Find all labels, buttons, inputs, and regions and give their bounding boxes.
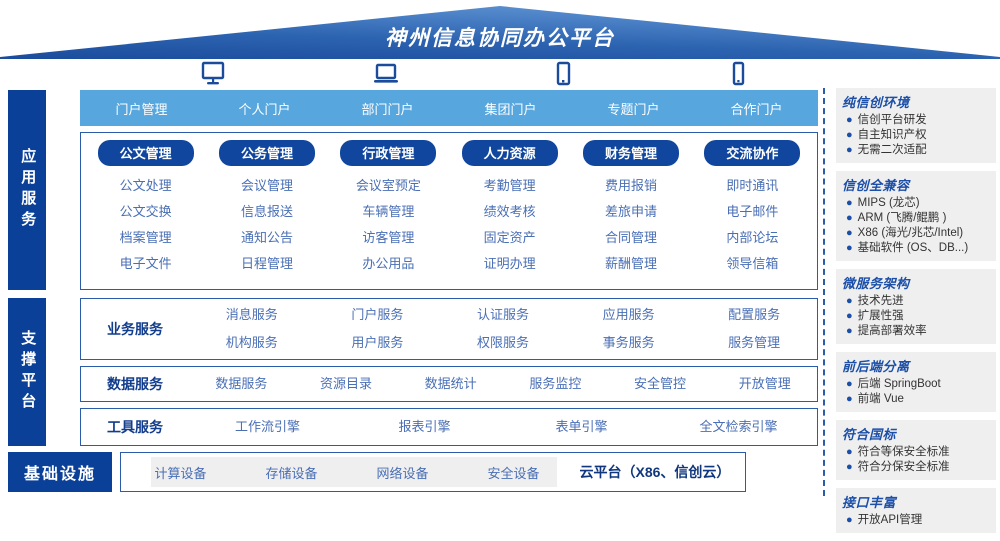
infrastructure-item[interactable]: 计算设备	[125, 463, 236, 482]
module-title-pill[interactable]: 公务管理	[219, 140, 315, 166]
bullet-icon: ●	[846, 128, 853, 143]
feature-list-item-text: 开放API管理	[858, 513, 923, 528]
smartphone-icon	[725, 61, 759, 89]
application-module-column: 财务管理 费用报销 差旅申请 合同管理 薪酬管理	[570, 140, 691, 277]
feature-card-heading: 接口丰富	[842, 492, 991, 511]
support-item[interactable]: 资源目录	[294, 370, 399, 398]
bullet-icon: ●	[846, 241, 853, 256]
bullet-icon: ●	[846, 211, 853, 226]
feature-list-item-text: 技术先进	[858, 294, 904, 309]
bullet-icon: ●	[846, 226, 853, 241]
feature-list-item: ●自主知识产权	[842, 128, 991, 143]
feature-list-item: ●基础软件 (OS、DB...)	[842, 241, 991, 256]
support-item-line: 消息服务 门户服务 认证服务 应用服务 配置服务	[189, 301, 817, 329]
support-item[interactable]: 机构服务	[189, 329, 315, 357]
support-item[interactable]: 用户服务	[315, 329, 441, 357]
feature-list-item: ●X86 (海光/兆芯/Intel)	[842, 226, 991, 241]
support-row-title: 工具服务	[81, 417, 189, 437]
application-module-column: 公务管理 会议管理 信息报送 通知公告 日程管理	[206, 140, 327, 277]
portal-item[interactable]: 集团门户	[449, 99, 572, 118]
module-title-pill[interactable]: 公文管理	[98, 140, 194, 166]
feature-card-heading: 信创全兼容	[842, 175, 991, 194]
application-modules-grid: 公文管理 公文处理 公文交换 档案管理 电子文件 公务管理 会议管理 信息报送 …	[85, 140, 813, 277]
layer-label-infrastructure: 基础设施	[8, 452, 112, 492]
feature-sidebar: 纯信创环境 ●信创平台研发 ●自主知识产权 ●无需二次适配 信创全兼容 ●MIP…	[836, 88, 996, 541]
support-item[interactable]: 服务监控	[503, 370, 608, 398]
support-row-title: 数据服务	[81, 374, 189, 394]
feature-card: 纯信创环境 ●信创平台研发 ●自主知识产权 ●无需二次适配	[836, 88, 996, 163]
feature-card: 前后端分离 ●后端 SpringBoot ●前端 Vue	[836, 352, 996, 412]
feature-list-item-text: 基础软件 (OS、DB...)	[858, 241, 969, 256]
module-item[interactable]: 固定资产	[484, 225, 536, 251]
support-row-data: 数据服务 数据服务 资源目录 数据统计 服务监控 安全管控 开放管理	[80, 366, 818, 402]
support-item[interactable]: 工作流引擎	[189, 413, 346, 441]
module-item[interactable]: 即时通讯	[726, 173, 778, 199]
feature-list-item: ●扩展性强	[842, 309, 991, 324]
feature-list-item: ●符合等保安全标准	[842, 445, 991, 460]
feature-list-item-text: 无需二次适配	[858, 143, 927, 158]
feature-list-item-text: MIPS (龙芯)	[858, 196, 920, 211]
support-row-items: 消息服务 门户服务 认证服务 应用服务 配置服务 机构服务 用户服务 权限服务 …	[189, 301, 817, 357]
feature-list-item: ●提高部署效率	[842, 324, 991, 339]
application-module-column: 交流协作 即时通讯 电子邮件 内部论坛 领导信箱	[692, 140, 813, 277]
support-row-tool: 工具服务 工作流引擎 报表引擎 表单引擎 全文检索引擎	[80, 408, 818, 446]
layer-label-support: 支撑平台	[8, 298, 46, 446]
bullet-icon: ●	[846, 445, 853, 460]
support-row-title: 业务服务	[81, 319, 189, 339]
support-item[interactable]: 事务服务	[566, 329, 692, 357]
feature-list-item: ●开放API管理	[842, 513, 991, 528]
support-item[interactable]: 开放管理	[712, 370, 817, 398]
feature-list-item-text: 提高部署效率	[858, 324, 927, 339]
module-title-pill[interactable]: 人力资源	[462, 140, 558, 166]
feature-list-item-text: X86 (海光/兆芯/Intel)	[858, 226, 963, 241]
feature-card: 符合国标 ●符合等保安全标准 ●符合分保安全标准	[836, 420, 996, 480]
tablet-icon	[550, 61, 584, 89]
laptop-icon	[373, 61, 407, 89]
feature-list-item-text: 自主知识产权	[858, 128, 927, 143]
infrastructure-item[interactable]: 存储设备	[236, 463, 347, 482]
bullet-icon: ●	[846, 196, 853, 211]
portal-item[interactable]: 合作门户	[695, 99, 818, 118]
feature-list-item: ●符合分保安全标准	[842, 460, 991, 475]
bullet-icon: ●	[846, 309, 853, 324]
support-item[interactable]: 消息服务	[189, 301, 315, 329]
feature-list-item: ●MIPS (龙芯)	[842, 196, 991, 211]
feature-list-item: ●技术先进	[842, 294, 991, 309]
feature-list-item: ●前端 Vue	[842, 392, 991, 407]
support-item[interactable]: 应用服务	[566, 301, 692, 329]
module-title-pill[interactable]: 财务管理	[583, 140, 679, 166]
module-item[interactable]: 公文处理	[120, 173, 172, 199]
module-item[interactable]: 公文交换	[120, 199, 172, 225]
feature-card: 微服务架构 ●技术先进 ●扩展性强 ●提高部署效率	[836, 269, 996, 344]
module-item[interactable]: 会议管理	[241, 173, 293, 199]
feature-list-item-text: 后端 SpringBoot	[858, 377, 941, 392]
module-item[interactable]: 费用报销	[605, 173, 657, 199]
module-item[interactable]: 证明办理	[484, 251, 536, 277]
module-item[interactable]: 电子邮件	[726, 199, 778, 225]
module-item[interactable]: 办公用品	[362, 251, 414, 277]
feature-list-item-text: ARM (飞腾/鲲鹏 )	[858, 211, 947, 226]
feature-card-heading: 符合国标	[842, 424, 991, 443]
application-module-column: 人力资源 考勤管理 绩效考核 固定资产 证明办理	[449, 140, 570, 277]
support-item[interactable]: 数据统计	[398, 370, 503, 398]
module-item[interactable]: 薪酬管理	[605, 251, 657, 277]
bullet-icon: ●	[846, 513, 853, 528]
module-item[interactable]: 绩效考核	[484, 199, 536, 225]
feature-list-item: ●信创平台研发	[842, 113, 991, 128]
support-item[interactable]: 全文检索引擎	[660, 413, 817, 441]
portal-bar: 门户管理 个人门户 部门门户 集团门户 专题门户 合作门户	[80, 90, 818, 126]
bullet-icon: ●	[846, 324, 853, 339]
application-module-column: 公文管理 公文处理 公文交换 档案管理 电子文件	[85, 140, 206, 277]
support-item[interactable]: 服务管理	[691, 329, 817, 357]
infrastructure-item-cloud[interactable]: 云平台（X86、信创云）	[569, 462, 741, 482]
module-title-pill[interactable]: 行政管理	[340, 140, 436, 166]
support-row-items: 数据服务 资源目录 数据统计 服务监控 安全管控 开放管理	[189, 370, 817, 398]
application-module-column: 行政管理 会议室预定 车辆管理 访客管理 办公用品	[328, 140, 449, 277]
support-item-line: 机构服务 用户服务 权限服务 事务服务 服务管理	[189, 329, 817, 357]
feature-card-heading: 纯信创环境	[842, 92, 991, 111]
support-item-line: 数据服务 资源目录 数据统计 服务监控 安全管控 开放管理	[189, 370, 817, 398]
layer-label-application: 应用服务	[8, 90, 46, 290]
support-item[interactable]: 表单引擎	[503, 413, 660, 441]
feature-list-item: ●ARM (飞腾/鲲鹏 )	[842, 211, 991, 226]
feature-card-heading: 微服务架构	[842, 273, 991, 292]
support-item[interactable]: 安全管控	[608, 370, 713, 398]
feature-list-item-text: 扩展性强	[858, 309, 904, 324]
infrastructure-box: 计算设备 存储设备 网络设备 安全设备 云平台（X86、信创云）	[120, 452, 746, 492]
bullet-icon: ●	[846, 377, 853, 392]
module-item[interactable]: 电子文件	[120, 251, 172, 277]
module-item[interactable]: 内部论坛	[726, 225, 778, 251]
feature-list-item-text: 符合等保安全标准	[858, 445, 950, 460]
support-row-items: 工作流引擎 报表引擎 表单引擎 全文检索引擎	[189, 413, 817, 441]
module-item[interactable]: 考勤管理	[484, 173, 536, 199]
module-title-pill[interactable]: 交流协作	[704, 140, 800, 166]
portal-item[interactable]: 专题门户	[572, 99, 695, 118]
page-title: 神州信息协同办公平台	[0, 22, 1000, 52]
application-modules-box: 公文管理 公文处理 公文交换 档案管理 电子文件 公务管理 会议管理 信息报送 …	[80, 132, 818, 290]
support-row-business: 业务服务 消息服务 门户服务 认证服务 应用服务 配置服务 机构服务 用户服务 …	[80, 298, 818, 360]
support-item[interactable]: 数据服务	[189, 370, 294, 398]
bullet-icon: ●	[846, 460, 853, 475]
layer-label-infrastructure-text: 基础设施	[24, 460, 96, 484]
module-item[interactable]: 日程管理	[241, 251, 293, 277]
platform-roof: 神州信息协同办公平台	[0, 0, 1000, 60]
feature-list-item-text: 信创平台研发	[858, 113, 927, 128]
bullet-icon: ●	[846, 392, 853, 407]
support-item[interactable]: 权限服务	[440, 329, 566, 357]
feature-list-item: ●后端 SpringBoot	[842, 377, 991, 392]
desktop-monitor-icon	[200, 61, 234, 89]
portal-item[interactable]: 门户管理	[80, 99, 203, 118]
layer-label-support-text: 支撑平台	[19, 330, 36, 414]
module-item[interactable]: 差旅申请	[605, 199, 657, 225]
feature-card: 信创全兼容 ●MIPS (龙芯) ●ARM (飞腾/鲲鹏 ) ●X86 (海光/…	[836, 171, 996, 261]
infrastructure-item[interactable]: 网络设备	[347, 463, 458, 482]
module-item[interactable]: 信息报送	[241, 199, 293, 225]
module-item[interactable]: 档案管理	[120, 225, 172, 251]
bullet-icon: ●	[846, 294, 853, 309]
module-item[interactable]: 访客管理	[362, 225, 414, 251]
support-item[interactable]: 门户服务	[315, 301, 441, 329]
module-item[interactable]: 领导信箱	[726, 251, 778, 277]
module-item[interactable]: 会议室预定	[356, 173, 421, 199]
support-item[interactable]: 报表引擎	[346, 413, 503, 441]
module-item[interactable]: 通知公告	[241, 225, 293, 251]
infrastructure-item[interactable]: 安全设备	[458, 463, 569, 482]
feature-card-heading: 前后端分离	[842, 356, 991, 375]
feature-list-item: ●无需二次适配	[842, 143, 991, 158]
module-item[interactable]: 车辆管理	[362, 199, 414, 225]
support-item-line: 工作流引擎 报表引擎 表单引擎 全文检索引擎	[189, 413, 817, 441]
layer-label-application-text: 应用服务	[19, 148, 36, 232]
portal-item[interactable]: 部门门户	[326, 99, 449, 118]
feature-list-item-text: 前端 Vue	[858, 392, 904, 407]
feature-list-item-text: 符合分保安全标准	[858, 460, 950, 475]
feature-card: 接口丰富 ●开放API管理	[836, 488, 996, 533]
support-item[interactable]: 认证服务	[440, 301, 566, 329]
module-item[interactable]: 合同管理	[605, 225, 657, 251]
bullet-icon: ●	[846, 113, 853, 128]
device-icon-row	[120, 61, 820, 89]
bullet-icon: ●	[846, 143, 853, 158]
support-item[interactable]: 配置服务	[691, 301, 817, 329]
architecture-diagram: 神州信息协同办公平台	[0, 0, 1000, 500]
layered-architecture: 应用服务 支撑平台 基础设施 门户管理 个人门户 部门门户 集团门户 专题门户 …	[8, 90, 818, 494]
portal-item[interactable]: 个人门户	[203, 99, 326, 118]
section-divider	[823, 88, 825, 496]
